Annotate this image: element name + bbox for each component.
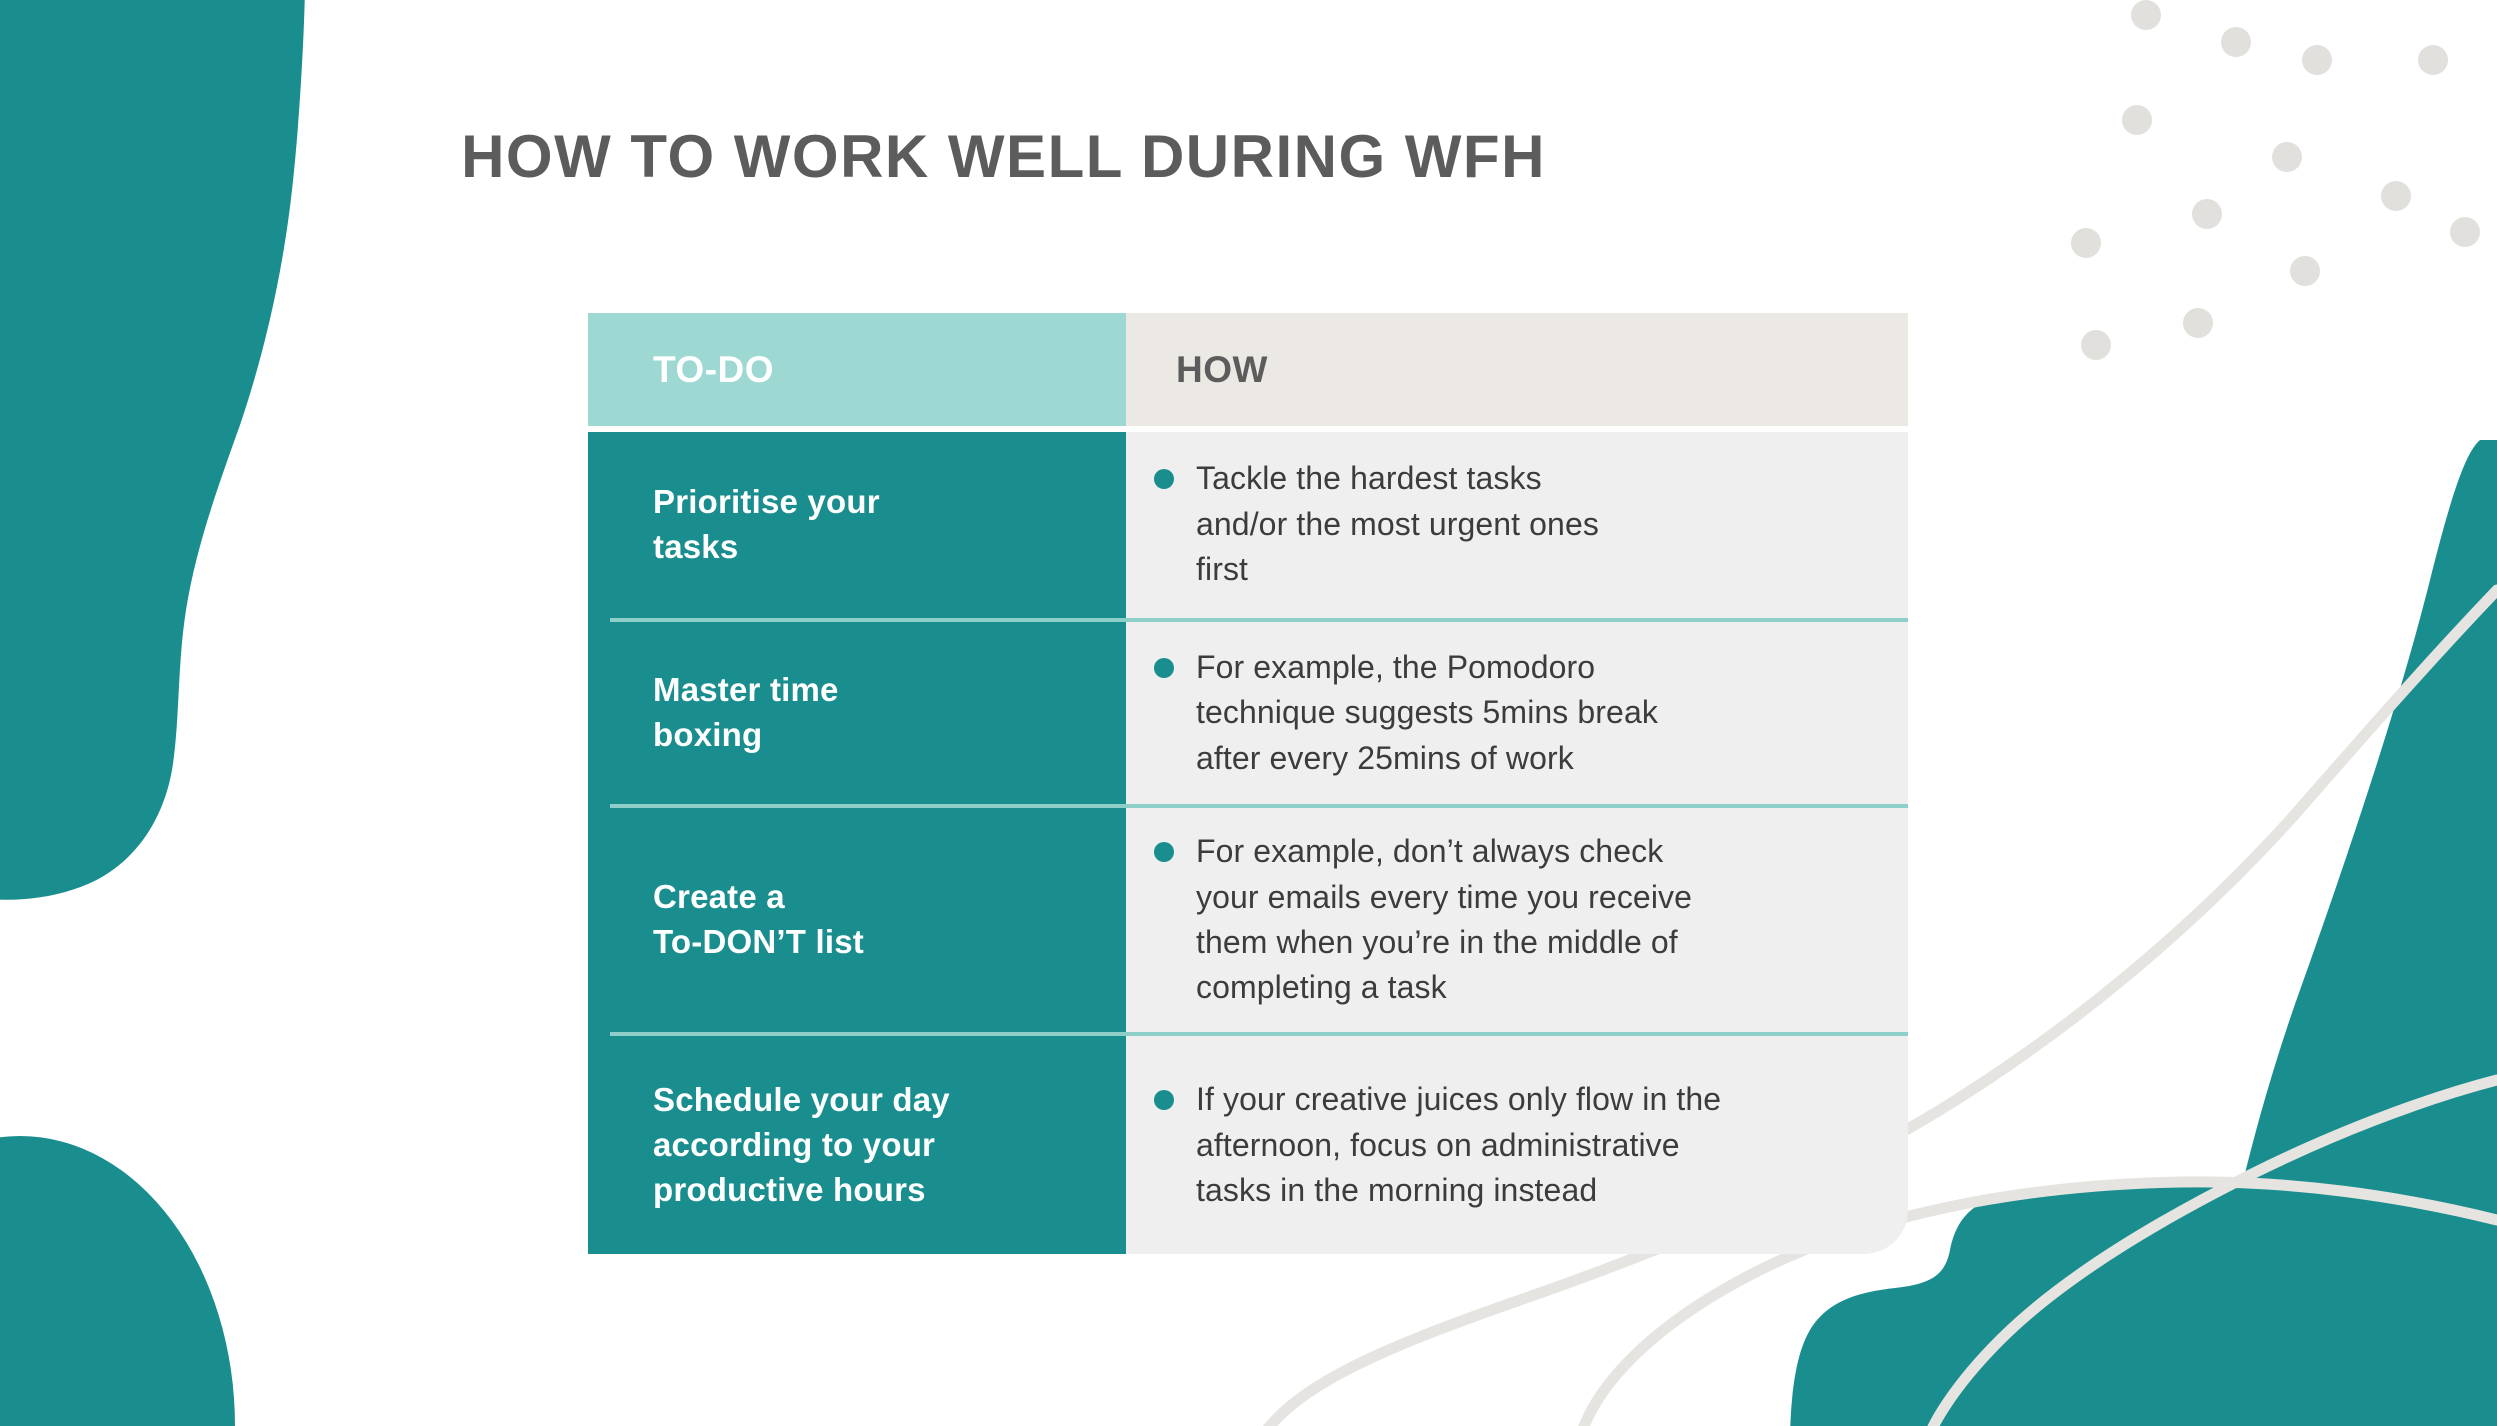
row-divider-line (610, 804, 1908, 808)
todo-label: Create a To-DON’T list (653, 875, 864, 965)
how-label: For example, don’t always check your ema… (1196, 829, 1692, 1011)
table-header-row: TO-DO HOW (588, 313, 1908, 426)
bullet-dot-icon (1154, 842, 1174, 862)
wfh-tips-table: TO-DO HOW Prioritise your tasks Tackle t… (588, 313, 1908, 1254)
how-bullet-block: For example, the Pomodoro technique sugg… (1154, 645, 1868, 781)
todo-label: Master time boxing (653, 668, 839, 758)
table-header-cell-how: HOW (1126, 313, 1908, 426)
page-title: HOW TO WORK WELL DURING WFH (0, 122, 2252, 191)
table-header-label-how: HOW (1176, 349, 1268, 391)
slide-canvas: HOW TO WORK WELL DURING WFH TO-DO HOW Pr… (0, 0, 2497, 1426)
bullet-dot-icon (1154, 658, 1174, 678)
table-cell-todo: Master time boxing (588, 623, 1126, 803)
teal-blob-bottom-left-shape (0, 1136, 235, 1426)
table-cell-how: For example, don’t always check your ema… (1126, 809, 1908, 1031)
how-label: For example, the Pomodoro technique sugg… (1196, 645, 1658, 781)
how-label: If your creative juices only flow in the… (1196, 1077, 1721, 1213)
table-cell-todo: Prioritise your tasks (588, 432, 1126, 617)
table-header-label-todo: TO-DO (653, 349, 774, 391)
teal-blob-top-left-shape (0, 0, 300, 406)
row-divider-line (610, 618, 1908, 622)
how-bullet-block: If your creative juices only flow in the… (1154, 1077, 1868, 1213)
todo-label: Schedule your day according to your prod… (653, 1078, 950, 1213)
how-bullet-block: For example, don’t always check your ema… (1154, 829, 1868, 1011)
table-header-cell-todo: TO-DO (588, 313, 1126, 426)
table-row: Master time boxing For example, the Pomo… (588, 623, 1908, 803)
table-cell-todo: Schedule your day according to your prod… (588, 1037, 1126, 1254)
table-row: Prioritise your tasks Tackle the hardest… (588, 432, 1908, 617)
table-row: Schedule your day according to your prod… (588, 1037, 1908, 1254)
how-bullet-block: Tackle the hardest tasks and/or the most… (1154, 456, 1868, 592)
row-divider-line (610, 1032, 1908, 1036)
teal-blob-right-shape (2200, 440, 2497, 1426)
todo-label: Prioritise your tasks (653, 480, 880, 570)
how-label: Tackle the hardest tasks and/or the most… (1196, 456, 1599, 592)
table-row: Create a To-DON’T list For example, don’… (588, 809, 1908, 1031)
bullet-dot-icon (1154, 1090, 1174, 1110)
bullet-dot-icon (1154, 469, 1174, 489)
table-cell-how: If your creative juices only flow in the… (1126, 1037, 1908, 1254)
table-cell-todo: Create a To-DON’T list (588, 809, 1126, 1031)
table-cell-how: Tackle the hardest tasks and/or the most… (1126, 432, 1908, 617)
table-cell-how: For example, the Pomodoro technique sugg… (1126, 623, 1908, 803)
teal-band-bottom-shape (1950, 1264, 2497, 1426)
curve-line-outer (1926, 1080, 2497, 1426)
